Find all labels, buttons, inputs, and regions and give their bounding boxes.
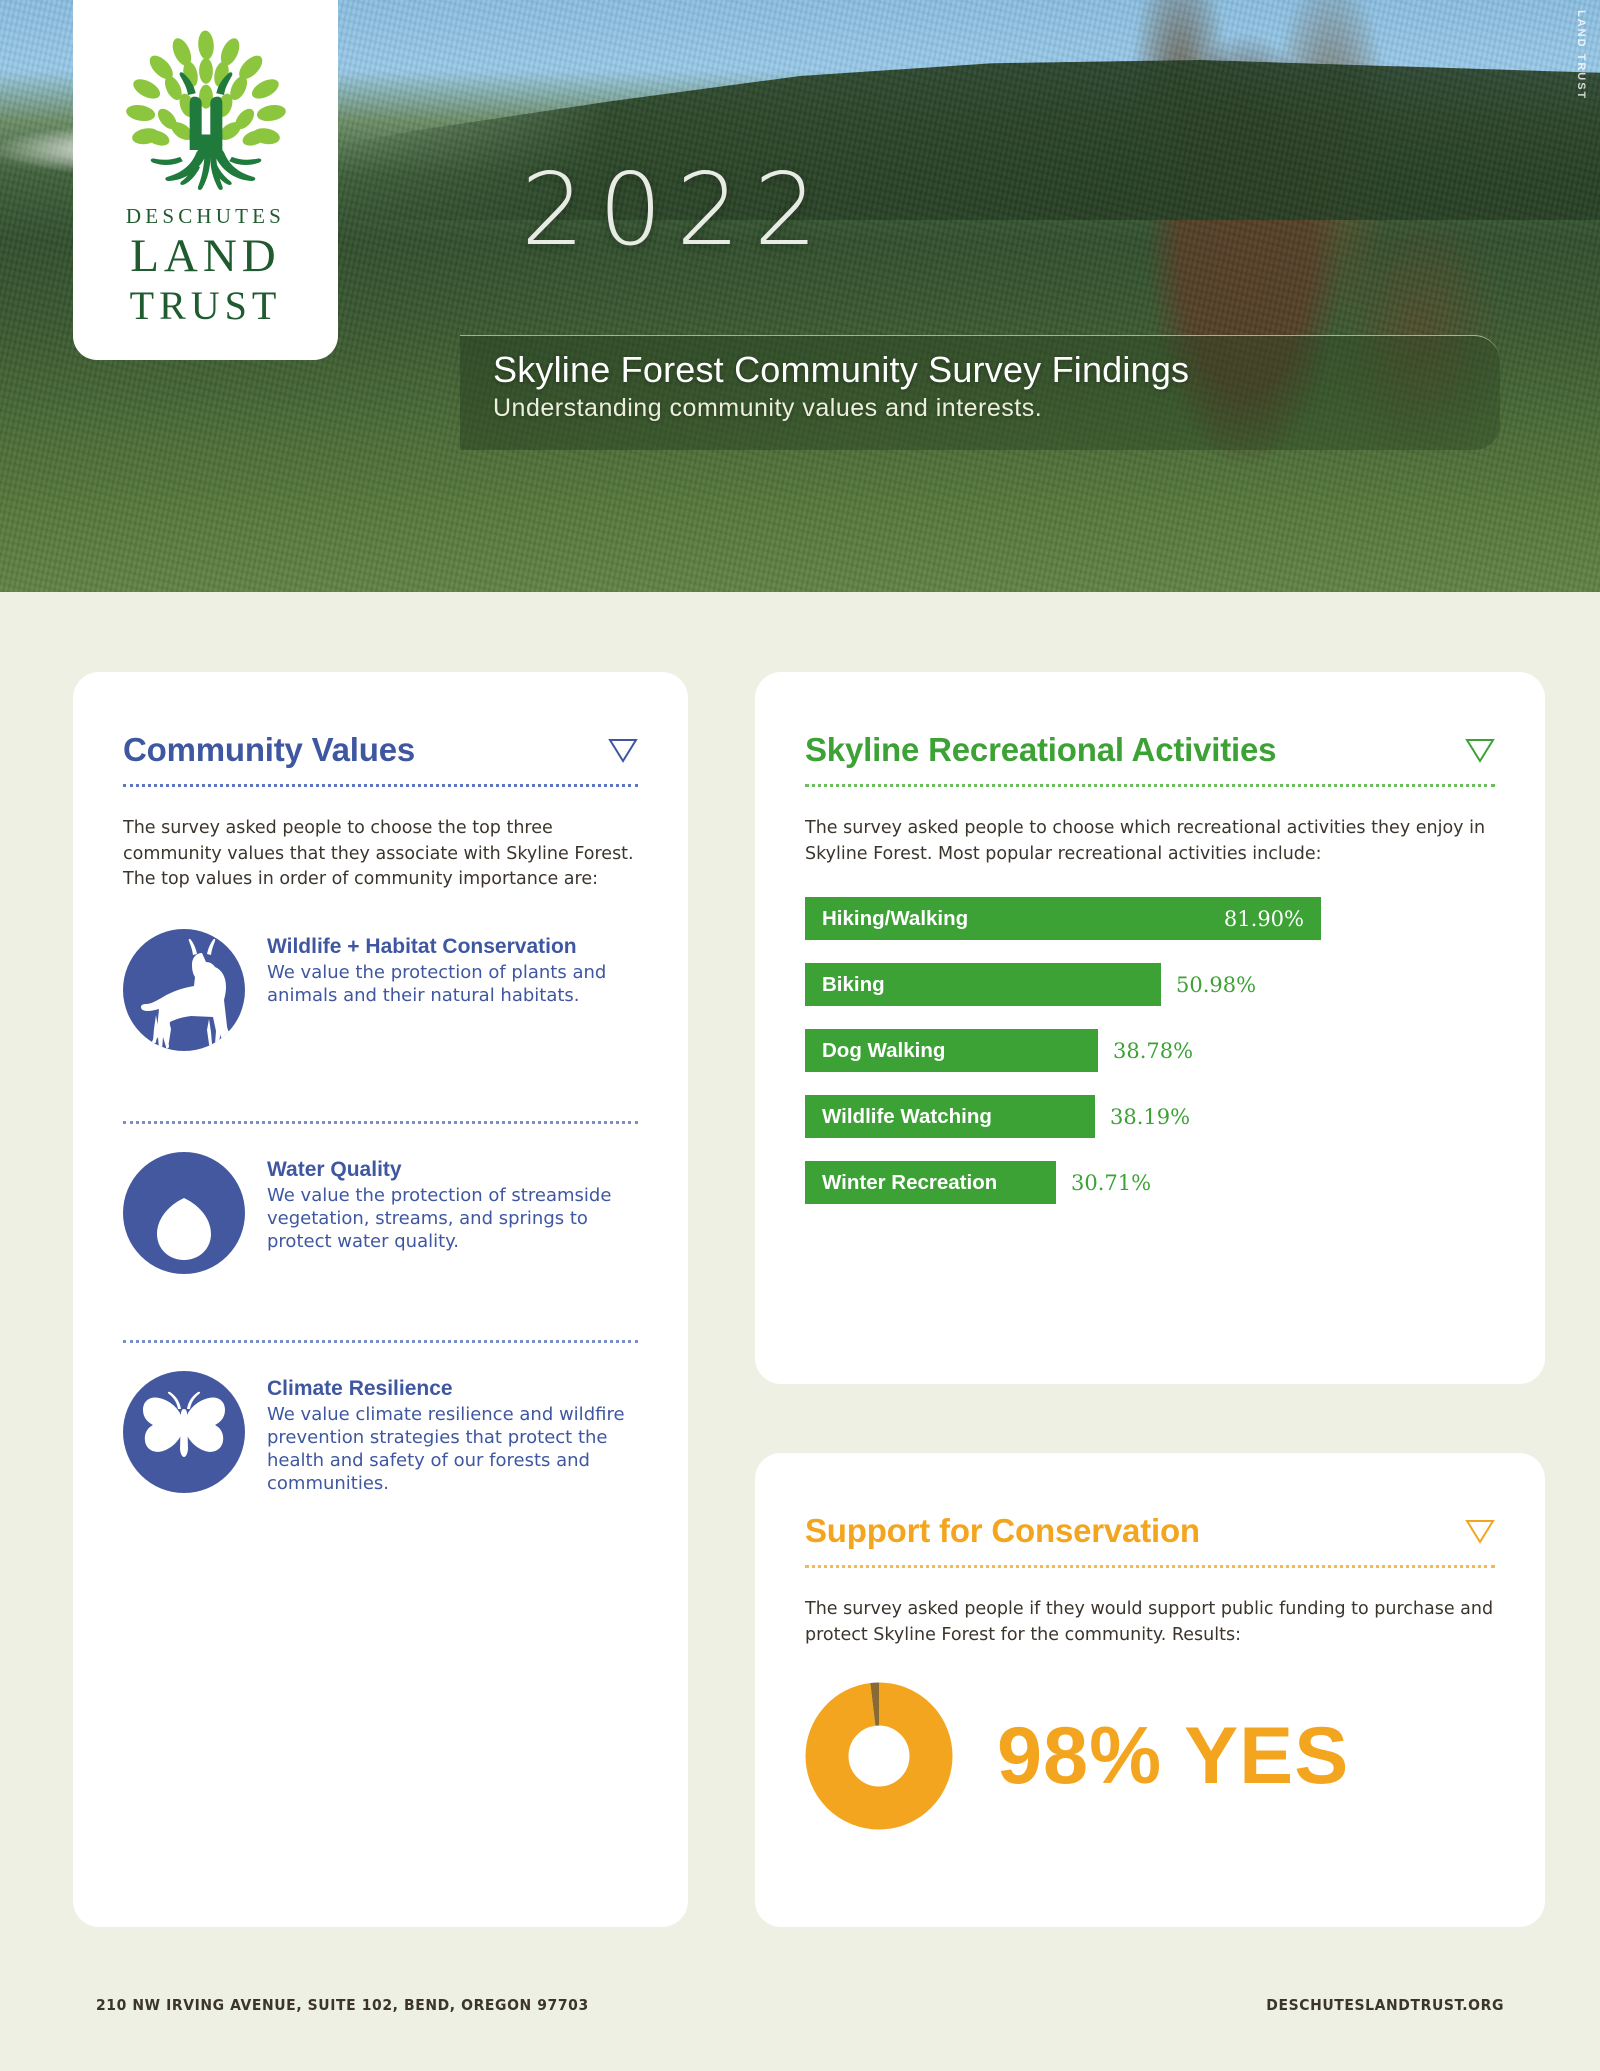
value-heading: Climate Resilience [267,1377,638,1401]
value-body: We value climate resilience and wildfire… [267,1404,638,1495]
bar: Hiking/Walking81.90% [805,897,1321,940]
community-values-divider [123,784,638,787]
bar: Dog Walking [805,1029,1098,1072]
value-heading: Wildlife + Habitat Conservation [267,935,638,959]
bar-row: Winter Recreation30.71% [805,1161,1495,1204]
value-text-wildlife-habitat: Wildlife + Habitat Conservation We value… [267,929,638,1008]
deer-icon [123,929,245,1051]
logo-card: DESCHUTES LAND TRUST [73,0,338,360]
land-trust-watermark: LAND TRUST [1575,10,1587,100]
butterfly-icon-badge [123,1371,245,1493]
logo-wordmark: DESCHUTES LAND TRUST [126,204,285,327]
bar: Biking [805,963,1161,1006]
footer-website[interactable]: DESCHUTESLANDTRUST.ORG [1266,1996,1504,2014]
donut-svg [805,1682,953,1830]
deer-icon-badge [123,929,245,1051]
bar: Winter Recreation [805,1161,1056,1204]
community-values-list: Wildlife + Habitat Conservation We value… [123,929,638,1496]
support-header: Support for Conservation [805,1513,1495,1549]
value-text-climate-resilience: Climate Resilience We value climate resi… [267,1371,638,1496]
value-divider-2 [123,1340,638,1343]
bar-label: Biking [822,973,885,997]
support-description: The survey asked people if they would su… [805,1597,1495,1648]
hero-title-banner: Skyline Forest Community Survey Findings… [460,335,1500,450]
bar-label: Wildlife Watching [822,1105,992,1129]
chevron-down-triangle-icon [1465,737,1495,763]
value-item-water-quality: Water Quality We value the protection of… [123,1152,638,1274]
page-footer: 210 NW IRVING AVENUE, SUITE 102, BEND, O… [0,1959,1600,2071]
community-values-description: The survey asked people to choose the to… [123,816,638,893]
recreation-divider [805,784,1495,787]
bar-row: Dog Walking38.78% [805,1029,1495,1072]
bar-value: 38.78% [1113,1039,1193,1063]
logo-line-trust: TRUST [126,284,285,327]
water-droplet-icon-badge [123,1152,245,1274]
value-divider-1 [123,1121,638,1124]
logo-line-land: LAND [126,231,285,282]
value-text-water-quality: Water Quality We value the protection of… [267,1152,638,1254]
support-title: Support for Conservation [805,1513,1200,1549]
logo-line-deschutes: DESCHUTES [126,204,285,229]
water-droplet-icon [123,1152,245,1274]
tree-logo-icon [120,26,292,194]
community-values-title: Community Values [123,732,415,768]
bar-row: Hiking/Walking81.90% [805,897,1495,940]
footer-address: 210 NW IRVING AVENUE, SUITE 102, BEND, O… [96,1996,589,2014]
bar-value: 38.19% [1110,1105,1190,1129]
support-donut-chart [805,1682,953,1830]
butterfly-icon [123,1371,245,1493]
recreation-title: Skyline Recreational Activities [805,732,1276,768]
bar-value: 50.98% [1176,973,1256,997]
chevron-down-triangle-icon [608,737,638,763]
value-body: We value the protection of streamside ve… [267,1185,638,1254]
chevron-down-triangle-icon [1465,1518,1495,1544]
value-heading: Water Quality [267,1158,638,1182]
bar-label: Dog Walking [822,1039,945,1063]
value-item-climate-resilience: Climate Resilience We value climate resi… [123,1371,638,1496]
community-values-header: Community Values [123,732,638,768]
value-item-wildlife-habitat: Wildlife + Habitat Conservation We value… [123,929,638,1051]
bar-label: Hiking/Walking [822,907,968,931]
recreational-activities-card: Skyline Recreational Activities The surv… [755,672,1545,1384]
bar-row: Wildlife Watching38.19% [805,1095,1495,1138]
hero-banner: DESCHUTES LAND TRUST 2022 Skyline Forest… [0,0,1600,592]
support-conservation-card: Support for Conservation The survey aske… [755,1453,1545,1927]
bar-value: 30.71% [1071,1171,1151,1195]
recreation-bar-chart: Hiking/Walking81.90%Biking50.98%Dog Walk… [805,897,1495,1204]
support-result-row: 98% YES [805,1682,1495,1830]
community-values-card: Community Values The survey asked people… [73,672,688,1927]
bar-row: Biking50.98% [805,963,1495,1006]
bar-label: Winter Recreation [822,1171,997,1195]
recreation-description: The survey asked people to choose which … [805,816,1495,867]
support-divider [805,1565,1495,1568]
bar: Wildlife Watching [805,1095,1095,1138]
recreation-header: Skyline Recreational Activities [805,732,1495,768]
bar-value: 81.90% [1224,907,1304,931]
value-body: We value the protection of plants and an… [267,962,638,1008]
hero-subtitle: Understanding community values and inter… [493,392,1500,425]
hero-title: Skyline Forest Community Survey Findings [493,348,1500,391]
hero-year: 2022 [521,160,832,260]
infographic-page: DESCHUTES LAND TRUST 2022 Skyline Forest… [0,0,1600,2071]
support-result-label: 98% YES [997,1716,1349,1797]
